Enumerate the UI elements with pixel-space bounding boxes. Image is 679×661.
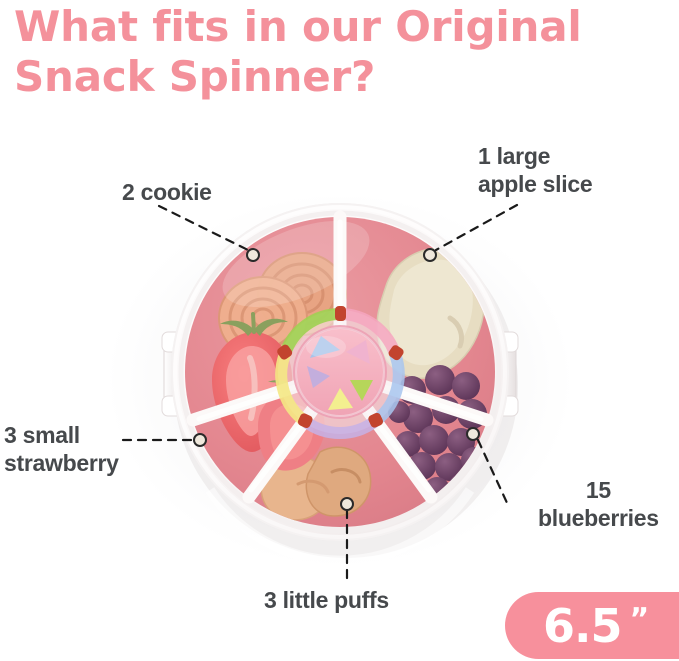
poster-canvas: What fits in our Original Snack Spinner?: [0, 0, 679, 661]
page-title: What fits in our Original Snack Spinner?: [14, 2, 674, 102]
callout-label-apple: 1 large apple slice: [478, 142, 592, 198]
size-badge-value: 6.5: [543, 603, 622, 649]
callout-label-blueberries: 15 blueberries: [538, 476, 659, 532]
size-badge: 6.5 ”: [505, 592, 679, 659]
callout-label-cookie: 2 cookie: [122, 178, 212, 206]
size-badge-unit: ”: [630, 605, 650, 635]
product-image: [150, 190, 530, 560]
callout-label-puffs: 3 little puffs: [264, 586, 389, 614]
snack-spinner-illustration: [150, 190, 530, 560]
callout-label-strawberry: 3 small strawberry: [4, 421, 119, 477]
